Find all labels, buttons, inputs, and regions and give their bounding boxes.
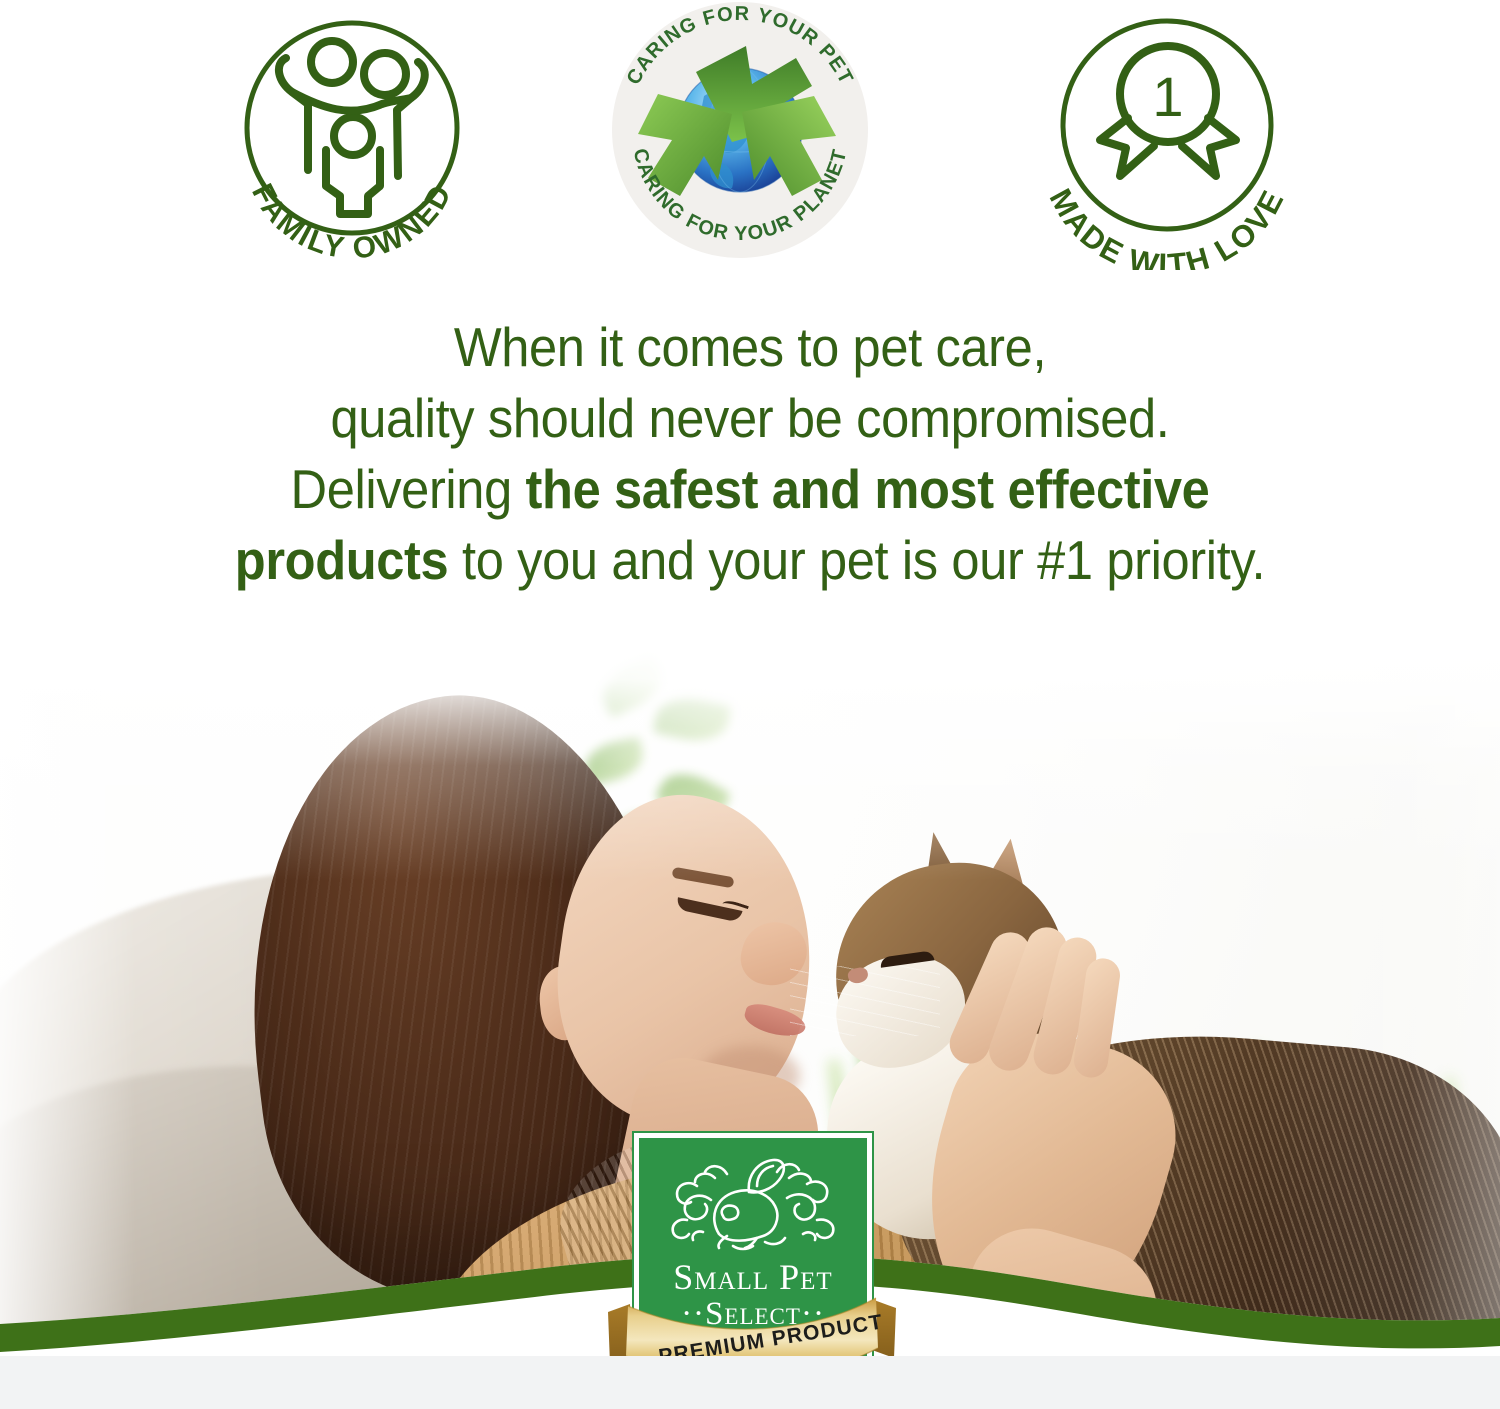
headline-line-4-plain: to you and your pet is our #1 priority. [448, 529, 1265, 591]
headline-line-3: Delivering the safest and most effective [60, 454, 1440, 525]
badge-made-with-love: 1 MADE WITH LOVE [1022, 0, 1312, 270]
headline-line-1: When it comes to pet care, [60, 312, 1440, 383]
trust-badge-row: FAMILY OWNED [0, 0, 1500, 280]
headline-line-3-emphasis: the safest and most effective [526, 458, 1210, 520]
ornate-rabbit-icon [657, 1148, 857, 1258]
headline-line-2: quality should never be compromised. [60, 383, 1440, 454]
headline-line-3-plain: Delivering [291, 458, 526, 520]
brand-logo: Small Pet ··Select·· [628, 1126, 878, 1376]
headline-line-4: products to you and your pet is our #1 p… [60, 525, 1440, 596]
bottom-strip [0, 1356, 1500, 1409]
brand-name-line-1: Small Pet [639, 1258, 867, 1296]
badge-family-owned: FAMILY OWNED [222, 0, 482, 270]
award-number: 1 [1152, 65, 1183, 128]
headline-line-4-emphasis: products [235, 529, 449, 591]
infographic-root: FAMILY OWNED [0, 0, 1500, 1409]
family-icon [279, 41, 425, 214]
badge-family-owned-label: FAMILY OWNED [245, 178, 459, 265]
headline: When it comes to pet care, quality shoul… [60, 312, 1440, 596]
badge-caring-planet: CARING FOR YOUR PET CARING FOR YOUR PLAN… [600, 0, 880, 260]
